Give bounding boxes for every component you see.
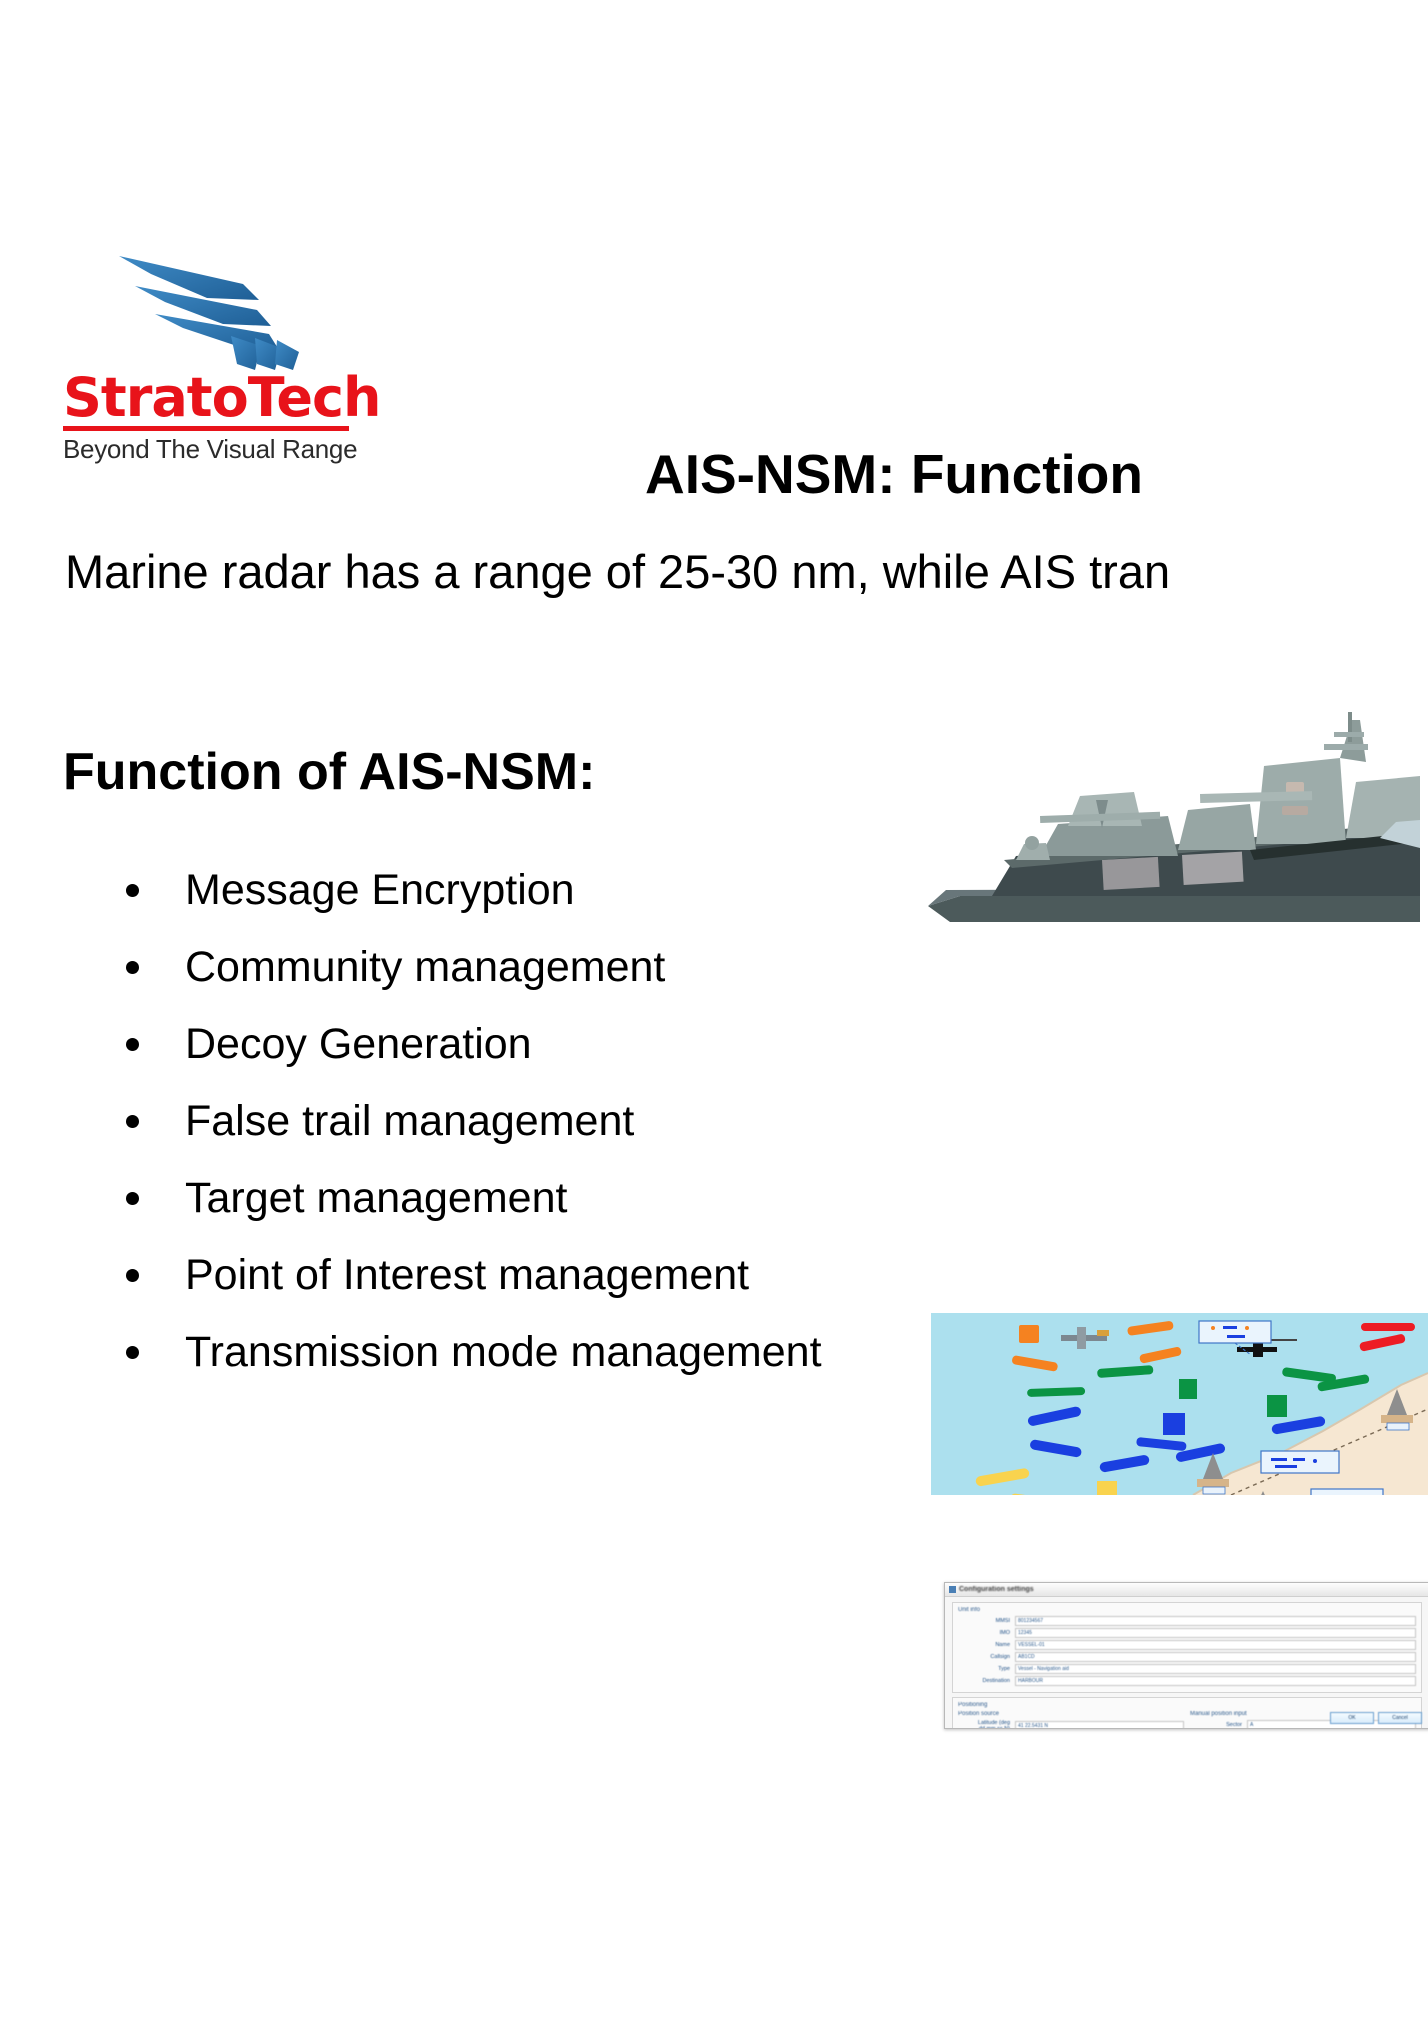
field-value[interactable]: 41 22.5431 N xyxy=(1015,1721,1184,1729)
positioning-group-label: Positioning xyxy=(958,1702,1416,1708)
field-row: Type Vessel - Navigation aid xyxy=(958,1664,1416,1674)
field-row: Name VESSEL-01 xyxy=(958,1640,1416,1650)
field-label: Type xyxy=(958,1666,1010,1672)
bullet-dot-icon xyxy=(126,1038,139,1051)
list-item-label: Transmission mode management xyxy=(185,1328,822,1376)
type-dropdown[interactable]: Vessel - Navigation aid xyxy=(1015,1664,1416,1674)
dialog-title: Configuration settings xyxy=(959,1586,1034,1593)
field-row: Callsign AB1CD xyxy=(958,1652,1416,1662)
list-item: Point of Interest management xyxy=(120,1237,1080,1314)
field-label: Latitude (deg dd.mm.ss N) xyxy=(958,1720,1010,1729)
cancel-button[interactable]: Cancel xyxy=(1378,1712,1422,1724)
list-item-label: Point of Interest management xyxy=(185,1251,749,1299)
lead-paragraph: Marine radar has a range of 25-30 nm, wh… xyxy=(65,545,1170,599)
list-item-label: Target management xyxy=(185,1174,567,1222)
logo-tagline: Beyond The Visual Range xyxy=(63,434,353,465)
bullet-dot-icon xyxy=(126,1269,139,1282)
field-row: Destination HARBOUR xyxy=(958,1676,1416,1686)
field-label: Destination xyxy=(958,1678,1010,1684)
slide-title: AIS-NSM: Function xyxy=(645,446,1143,504)
field-label: Sector xyxy=(1190,1722,1242,1728)
list-item: Target management xyxy=(120,1160,1080,1237)
dialog-app-icon xyxy=(949,1586,956,1593)
dialog-titlebar: Configuration settings xyxy=(945,1583,1428,1597)
section-heading: Function of AIS-NSM: xyxy=(63,745,595,800)
wing-logo-icon xyxy=(111,240,301,370)
stratotech-logo: StratoTech Beyond The Visual Range xyxy=(63,240,353,470)
field-value[interactable]: 12345 xyxy=(1015,1628,1416,1638)
field-label: Name xyxy=(958,1642,1010,1648)
dialog-body: Unit info MMSI 801234567 IMO 12345 Name … xyxy=(945,1597,1428,1728)
bullet-dot-icon xyxy=(126,884,139,897)
naval-warship-illustration xyxy=(920,710,1428,940)
logo-name: StratoTech xyxy=(63,370,353,425)
position-source-column: Position source Latitude (deg dd.mm.ss N… xyxy=(958,1711,1184,1729)
configuration-dialog-screenshot[interactable]: Configuration settings Unit info MMSI 80… xyxy=(944,1582,1428,1729)
unit-info-group: Unit info MMSI 801234567 IMO 12345 Name … xyxy=(952,1602,1422,1693)
bullet-dot-icon xyxy=(126,1192,139,1205)
bullet-dot-icon xyxy=(126,1346,139,1359)
tactical-situation-map xyxy=(931,1313,1428,1495)
list-item: False trail management xyxy=(120,1083,1080,1160)
list-item-label: False trail management xyxy=(185,1097,634,1145)
field-value[interactable]: AB1CD xyxy=(1015,1652,1416,1662)
field-label: MMSI xyxy=(958,1618,1010,1624)
list-item-label: Decoy Generation xyxy=(185,1020,532,1068)
field-value[interactable]: 801234567 xyxy=(1015,1616,1416,1626)
list-item: Community management xyxy=(120,929,1080,1006)
field-row: MMSI 801234567 xyxy=(958,1616,1416,1626)
list-item: Decoy Generation xyxy=(120,1006,1080,1083)
list-item-label: Community management xyxy=(185,943,665,991)
position-source-label: Position source xyxy=(958,1711,1184,1717)
field-label: Callsign xyxy=(958,1654,1010,1660)
field-value[interactable]: HARBOUR xyxy=(1015,1676,1416,1686)
unit-info-group-label: Unit info xyxy=(958,1607,1416,1613)
ok-button[interactable]: OK xyxy=(1330,1712,1374,1724)
field-row: IMO 12345 xyxy=(958,1628,1416,1638)
list-item-label: Message Encryption xyxy=(185,866,575,914)
field-label: IMO xyxy=(958,1630,1010,1636)
bullet-dot-icon xyxy=(126,1115,139,1128)
field-value[interactable]: VESSEL-01 xyxy=(1015,1640,1416,1650)
bullet-dot-icon xyxy=(126,961,139,974)
logo-wordmark: StratoTech Beyond The Visual Range xyxy=(63,370,353,465)
field-row: Latitude (deg dd.mm.ss N) 41 22.5431 N xyxy=(958,1720,1184,1729)
dialog-footer: OK Cancel xyxy=(1330,1712,1422,1724)
